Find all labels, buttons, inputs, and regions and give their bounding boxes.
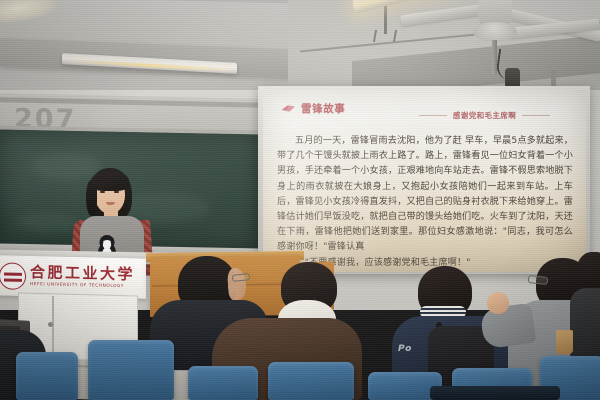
auditorium-seat[interactable] bbox=[268, 362, 354, 400]
student-hand bbox=[487, 292, 509, 314]
student-far-right bbox=[570, 288, 600, 358]
slide-subtitle-row: 感谢党和毛主席啊 bbox=[263, 110, 586, 121]
auditorium-seat[interactable] bbox=[188, 366, 258, 400]
rule-right bbox=[522, 115, 550, 116]
slide-body-paragraph: 五月的一天，雷锋冒雨去沈阳，他为了赶 早车，早晨5点多就起来，带了几个干馒头就披… bbox=[277, 136, 573, 252]
fan-housing bbox=[473, 22, 517, 42]
auditorium-seat[interactable] bbox=[16, 352, 78, 400]
student-ear bbox=[228, 280, 237, 293]
classroom-photo: 207 雷锋故事 感谢党和毛主席啊 五月的一天，雷锋冒雨去沈阳，他为了赶 早车，… bbox=[0, 0, 600, 400]
presenter-eye bbox=[100, 191, 105, 193]
presenter-eye bbox=[114, 191, 119, 193]
auditorium-seat[interactable] bbox=[88, 340, 174, 400]
jacket-text: Po bbox=[398, 344, 412, 354]
projection-screen[interactable]: 雷锋故事 感谢党和毛主席啊 五月的一天，雷锋冒雨去沈阳，他为了赶 早车，早晨5点… bbox=[263, 90, 586, 272]
slide-subtitle: 感谢党和毛主席啊 bbox=[453, 110, 516, 121]
light-bracket bbox=[373, 30, 397, 42]
rule-left bbox=[419, 115, 447, 116]
presenter-bangs bbox=[91, 171, 129, 191]
drink-cup bbox=[556, 330, 573, 354]
seat-front-edge bbox=[430, 386, 560, 400]
